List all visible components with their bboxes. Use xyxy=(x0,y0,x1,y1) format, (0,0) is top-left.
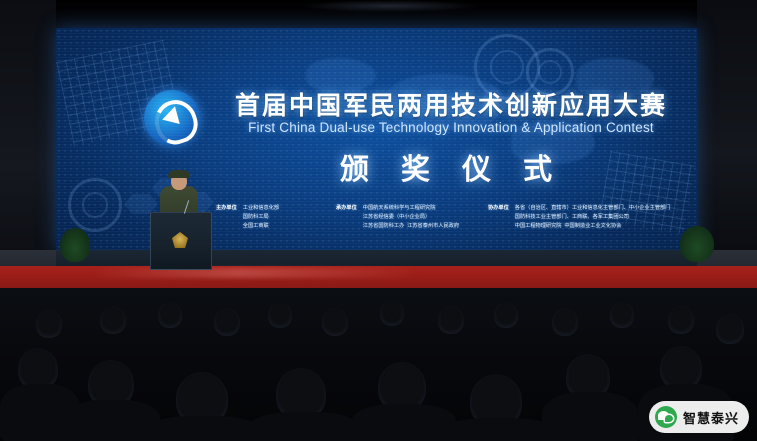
audience-head xyxy=(438,306,464,334)
audience-head xyxy=(322,308,348,336)
organizer-line: 江苏省国防科工办 xyxy=(363,223,405,229)
audience-shoulders xyxy=(444,418,554,441)
speaker-military-cap xyxy=(168,170,190,178)
watermark-label: 智慧泰兴 xyxy=(683,408,739,427)
audience-head xyxy=(100,306,126,334)
audience-head xyxy=(610,302,634,328)
audience-head xyxy=(36,310,62,338)
contest-logo-icon xyxy=(144,90,200,146)
organizer-line: 江苏省经信委（中小企业局） xyxy=(363,214,430,220)
screen-title-english: First China Dual-use Technology Innovati… xyxy=(206,120,696,135)
organizer-lines: 中国航天系统科学与工程研究院江苏省经信委（中小企业局）江苏省国防科工办 江苏省泰… xyxy=(363,204,459,231)
organizer-block-host: 主办单位工业和信息化部国防科工局全国工商联 xyxy=(216,204,279,231)
audience-shoulders xyxy=(352,404,456,441)
organizer-heading: 协办单位 xyxy=(488,204,509,213)
organizer-line: 国防科技工业主管部门、工商联、各军工集团公司 xyxy=(515,214,629,220)
audience-head xyxy=(268,302,292,328)
audience-shoulders xyxy=(148,416,258,441)
photograph: 首届中国军民两用技术创新应用大赛 First China Dual-use Te… xyxy=(0,0,757,441)
screen-title-chinese: 首届中国军民两用技术创新应用大赛 xyxy=(216,86,686,122)
audience-shoulders xyxy=(250,412,358,441)
organizer-line: 中国工程物理研究院 xyxy=(515,223,562,229)
organizer-heading: 主办单位 xyxy=(216,204,237,213)
organizer-line: 工业和信息化部 xyxy=(243,205,279,211)
organizer-line: 中国航天系统科学与工程研究院 xyxy=(363,205,436,211)
audience-head xyxy=(214,308,240,336)
organizer-line: 国防科工局 xyxy=(243,214,269,220)
wechat-icon xyxy=(655,406,677,428)
organizer-heading: 承办单位 xyxy=(336,204,357,213)
audience-head xyxy=(158,302,182,328)
gear-icon-corner xyxy=(68,178,122,232)
audience-head xyxy=(668,306,694,334)
organizer-line: 中国制造业工业文化协会 xyxy=(564,223,621,229)
audience-shoulders xyxy=(542,392,638,441)
audience-shoulders xyxy=(64,400,160,441)
organizer-line: 全国工商联 xyxy=(243,223,269,229)
audience-area xyxy=(0,288,757,441)
stage-plant-left xyxy=(60,228,90,262)
stage-plant-right xyxy=(680,226,714,262)
watermark-badge: 智慧泰兴 xyxy=(649,401,749,433)
carpet-highlight xyxy=(90,268,420,278)
ceiling-light-glow xyxy=(300,0,480,12)
organizer-lines: 工业和信息化部国防科工局全国工商联 xyxy=(243,204,279,231)
organizer-lines: 各省（自治区、直辖市）工业和信息化主管部门、中小企业主管部门国防科技工业主管部门… xyxy=(515,204,671,231)
organizer-block-coorganizer: 协办单位各省（自治区、直辖市）工业和信息化主管部门、中小企业主管部门国防科技工业… xyxy=(488,204,670,231)
audience-head xyxy=(552,308,578,336)
audience-head xyxy=(380,300,404,326)
organizer-block-undertaker: 承办单位中国航天系统科学与工程研究院江苏省经信委（中小企业局）江苏省国防科工办 … xyxy=(336,204,459,231)
audience-head xyxy=(716,314,744,344)
left-wall xyxy=(0,0,56,278)
audience-head xyxy=(494,302,518,328)
organizer-line: 江苏省泰州市人民政府 xyxy=(407,223,459,229)
screen-subtitle-chinese: 颁 奖 仪 式 xyxy=(266,146,626,188)
organizer-line: 各省（自治区、直辖市）工业和信息化主管部门、中小企业主管部门 xyxy=(515,205,671,211)
